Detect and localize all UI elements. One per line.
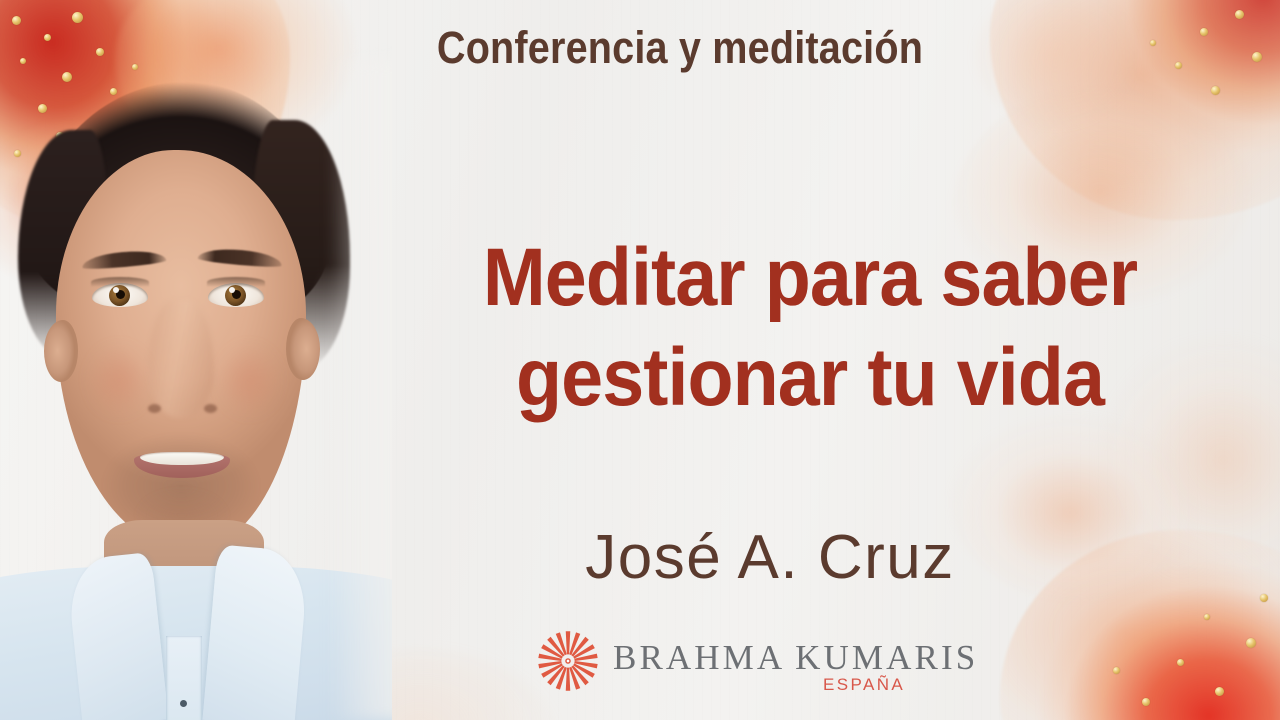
portrait-fade-edge bbox=[330, 60, 392, 720]
speaker-portrait bbox=[0, 0, 392, 720]
presentation-slide: Conferencia y meditación Meditar para sa… bbox=[0, 0, 1280, 720]
portrait-eyelid-right bbox=[207, 277, 265, 287]
logo-region-label: ESPAÑA bbox=[823, 675, 905, 695]
logo-wordmark: BRAHMA KUMARIS bbox=[613, 638, 978, 678]
gold-speckle bbox=[1260, 594, 1268, 602]
gold-speckle bbox=[1204, 614, 1210, 620]
portrait-eye-glint-left bbox=[113, 287, 119, 293]
gold-speckle bbox=[1246, 638, 1256, 648]
portrait-eyelid-left bbox=[91, 277, 149, 287]
brahma-kumaris-logo: BRAHMA KUMARIS ESPAÑA bbox=[525, 626, 925, 704]
gold-speckle bbox=[1177, 659, 1184, 666]
portrait-eye-glint-right bbox=[229, 287, 235, 293]
sunburst-icon bbox=[535, 628, 601, 694]
gold-speckle bbox=[1200, 28, 1208, 36]
headline-line-1: Meditar para saber bbox=[483, 232, 1137, 323]
portrait-nostril-right bbox=[204, 404, 217, 413]
slide-headline: Meditar para saber gestionar tu vida bbox=[396, 228, 1224, 428]
portrait-collar-left bbox=[65, 552, 168, 720]
portrait-shirt-placket bbox=[166, 636, 202, 720]
portrait-ear-left bbox=[44, 320, 78, 382]
gold-speckle bbox=[1150, 40, 1156, 46]
slide-eyebrow: Conferencia y meditación bbox=[363, 22, 997, 74]
gold-speckle bbox=[1215, 687, 1224, 696]
portrait-shirt-button bbox=[180, 700, 187, 707]
headline-line-2: gestionar tu vida bbox=[396, 328, 1224, 428]
portrait-nose bbox=[148, 300, 214, 418]
gold-speckle bbox=[1211, 86, 1220, 95]
gold-speckle bbox=[1142, 698, 1150, 706]
gold-speckle bbox=[1175, 62, 1182, 69]
portrait-collar-right bbox=[203, 544, 310, 720]
gold-speckle bbox=[1235, 10, 1244, 19]
portrait-nostril-left bbox=[148, 404, 161, 413]
gold-speckle bbox=[1113, 667, 1120, 674]
speaker-name: José A. Cruz bbox=[360, 522, 1180, 593]
gold-speckle bbox=[1252, 52, 1262, 62]
portrait-cheek-right bbox=[206, 330, 292, 430]
